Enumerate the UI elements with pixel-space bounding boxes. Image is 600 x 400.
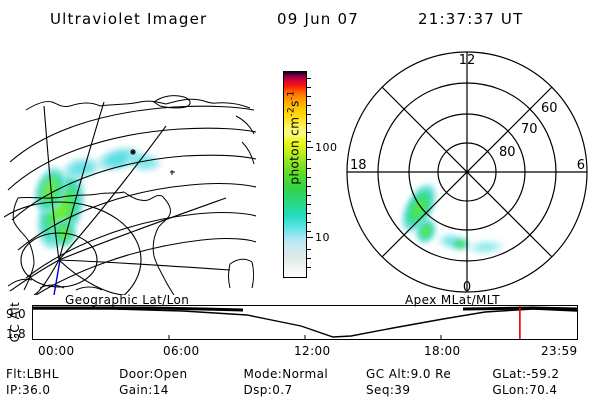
status-value: Normal <box>282 367 328 381</box>
status-value: LBHL <box>27 367 59 381</box>
status-key: Flt: <box>6 367 27 381</box>
status-value: 0.7 <box>272 383 292 397</box>
colorbar-tick-100 <box>307 147 313 148</box>
aurora-emission-region <box>26 140 166 259</box>
status-value: 36.0 <box>22 383 50 397</box>
status-value: 14 <box>153 383 169 397</box>
time-tick-0: 00:00 <box>38 344 75 358</box>
status-key: IP: <box>6 383 22 397</box>
colorbar-minor-tick <box>307 186 311 187</box>
gc-alt-tick-low: 1.8 <box>6 327 26 341</box>
colorbar-minor-tick <box>307 213 311 214</box>
status-key: Door: <box>119 367 154 381</box>
altitude-curve <box>33 309 577 337</box>
status-value: 70.4 <box>529 383 557 397</box>
status-row-2: IP: 36.0Gain: 14Dsp: 0.7Seq: 39GLon: 70.… <box>6 382 596 398</box>
mlt-spokes <box>347 52 587 292</box>
geographic-image-panel <box>4 50 256 295</box>
colorbar-minor-tick <box>307 159 311 160</box>
status-field-seq: Seq: 39 <box>366 383 492 397</box>
mlt-label-18: 18 <box>350 158 367 173</box>
geographic-plot-svg <box>4 50 256 295</box>
apex-dial-svg: 12 18 6 0 60 70 80 <box>336 48 596 296</box>
ultraviolet-imager-window: Ultraviolet Imager 09 Jun 07 21:37:37 UT <box>0 0 600 400</box>
colorbar-minor-tick <box>307 177 311 178</box>
gc-alt-tick-high: 9.0 <box>6 307 26 321</box>
status-field-gc-alt: GC Alt: 9.0 Re <box>366 367 492 381</box>
time-tick-1: 06:00 <box>163 344 200 358</box>
observation-date: 09 Jun 07 <box>277 10 359 28</box>
colorbar-minor-tick <box>307 114 311 115</box>
colorbar-minor-tick <box>307 195 311 196</box>
mlat-label-60: 60 <box>541 101 558 116</box>
status-value: -59.2 <box>526 367 559 381</box>
colorbar-minor-tick <box>307 96 311 97</box>
colorbar-axis-label: photon cm-2s-1 <box>287 68 302 208</box>
colorbar-minor-tick <box>307 87 311 88</box>
status-row-1: Flt: LBHLDoor: OpenMode: NormalGC Alt: 9… <box>6 366 596 382</box>
status-key: Dsp: <box>244 383 273 397</box>
colorbar-tick-label-100: 100 <box>315 142 338 153</box>
latitude-longitude-graticule <box>4 102 256 295</box>
colorbar-minor-tick <box>307 249 311 250</box>
status-value: Open <box>154 367 188 381</box>
colorbar-minor-tick <box>307 168 311 169</box>
orbit-altitude-plot[interactable] <box>32 305 578 340</box>
colorbar-minor-tick <box>307 105 311 106</box>
mlat-label-70: 70 <box>521 122 538 137</box>
status-field-door: Door: Open <box>119 367 243 381</box>
colorbar-tick-10 <box>307 237 313 238</box>
mlat-label-80: 80 <box>499 145 516 160</box>
colorbar-minor-tick <box>307 204 311 205</box>
status-readout: Flt: LBHLDoor: OpenMode: NormalGC Alt: 9… <box>6 366 596 398</box>
status-key: GC Alt: <box>366 367 411 381</box>
colorbar-minor-tick <box>307 141 311 142</box>
status-value: 39 <box>394 383 410 397</box>
status-field-glon: GLon: 70.4 <box>492 383 596 397</box>
status-field-ip: IP: 36.0 <box>6 383 119 397</box>
colorbar-minor-tick <box>307 231 311 232</box>
colorbar-tick-label-10: 10 <box>315 232 330 243</box>
mlt-label-6: 6 <box>577 158 585 173</box>
status-field-glat: GLat: -59.2 <box>492 367 596 381</box>
intensity-colorbar: 10010 photon cm-2s-1 <box>276 68 332 283</box>
apex-mlat-mlt-panel: 12 18 6 0 60 70 80 <box>336 48 596 296</box>
colorbar-minor-tick <box>307 123 311 124</box>
colorbar-minor-tick <box>307 132 311 133</box>
colorbar-minor-tick <box>307 267 311 268</box>
orbit-altitude-svg <box>33 306 577 339</box>
colorbar-minor-tick <box>307 258 311 259</box>
time-tick-3: 18:00 <box>424 344 461 358</box>
status-field-flt: Flt: LBHL <box>6 367 119 381</box>
status-key: Seq: <box>366 383 394 397</box>
status-field-dsp: Dsp: 0.7 <box>244 383 367 397</box>
status-key: GLat: <box>492 367 526 381</box>
observation-time: 21:37:37 UT <box>418 10 523 28</box>
status-key: GLon: <box>492 383 529 397</box>
status-key: Mode: <box>244 367 283 381</box>
status-field-mode: Mode: Normal <box>244 367 367 381</box>
status-value: 9.0 Re <box>411 367 451 381</box>
page-title: Ultraviolet Imager <box>50 10 207 28</box>
status-key: Gain: <box>119 383 153 397</box>
colorbar-minor-tick <box>307 78 311 79</box>
orbit-time-ticks <box>169 335 441 339</box>
time-tick-2: 12:00 <box>294 344 331 358</box>
time-tick-4: 23:59 <box>541 344 578 358</box>
spacecraft-track-marker <box>54 260 60 295</box>
mlt-label-12: 12 <box>459 53 476 68</box>
colorbar-minor-tick <box>307 222 311 223</box>
status-field-gain: Gain: 14 <box>119 383 243 397</box>
